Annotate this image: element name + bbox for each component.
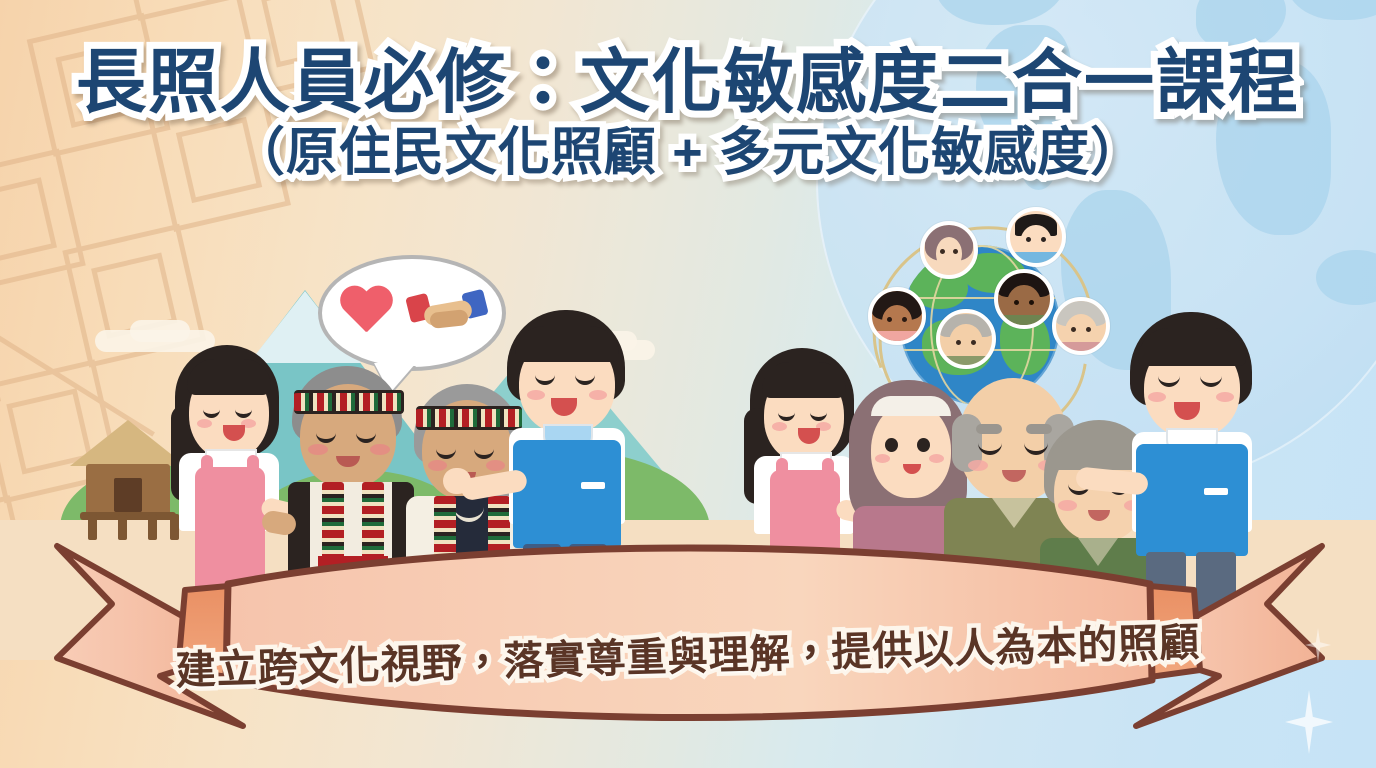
avatar-elder-man bbox=[936, 309, 996, 369]
speech-bubble bbox=[318, 255, 506, 371]
avatar-asian-man bbox=[1006, 207, 1066, 267]
heart-icon bbox=[338, 287, 394, 339]
avatar-hijab-woman bbox=[920, 221, 978, 279]
avatar-dark-skin-man bbox=[994, 269, 1054, 329]
indigenous-headband bbox=[294, 390, 404, 414]
poster-canvas: 建立跨文化視野，落實尊重與理解，提供以人為本的照顧 長照人員必修：文化敏感度二合… bbox=[0, 0, 1376, 768]
avatar-elder-woman bbox=[1052, 297, 1110, 355]
poster-subtitle: （原住民文化照顧 + 多元文化敏感度） bbox=[0, 126, 1376, 181]
name-badge bbox=[581, 482, 605, 489]
avatar-dark-skin-woman bbox=[868, 287, 926, 345]
title-block: 長照人員必修：文化敏感度二合一課程 （原住民文化照顧 + 多元文化敏感度） bbox=[0, 46, 1376, 180]
handshake-icon bbox=[408, 287, 486, 339]
poster-title: 長照人員必修：文化敏感度二合一課程 bbox=[0, 46, 1376, 120]
name-badge bbox=[1204, 488, 1228, 495]
